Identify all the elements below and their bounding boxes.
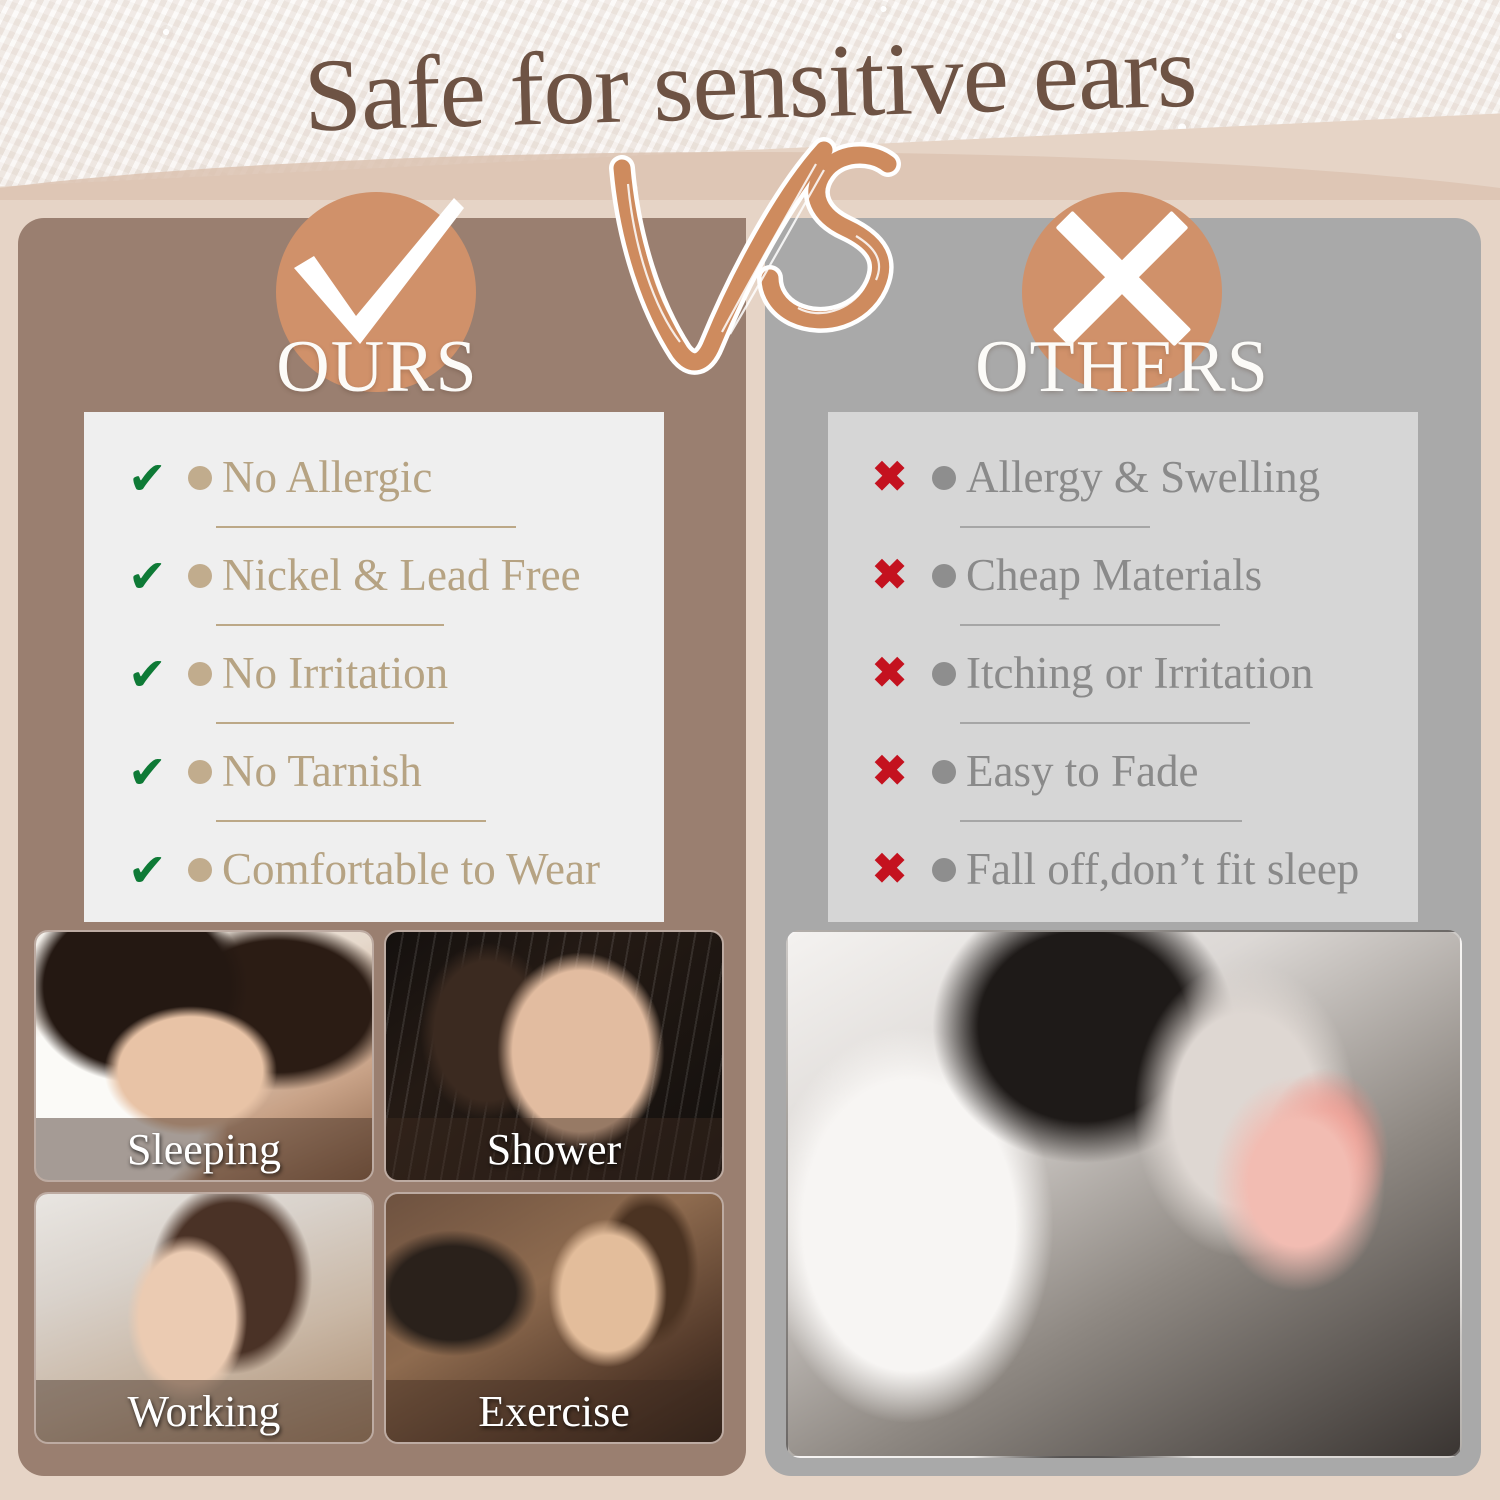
check-icon: ✔ [128,651,174,697]
others-ear-pain-photo[interactable] [786,930,1462,1458]
list-item-label: Nickel & Lead Free [222,552,581,599]
list-item[interactable]: ✖ Fall off,don’t fit sleep [828,822,1418,918]
photo-card-sleeping[interactable]: Sleeping [34,930,374,1182]
photo-caption: Working [36,1380,372,1442]
list-item[interactable]: ✔ No Tarnish [84,724,664,820]
list-item-label: Itching or Irritation [966,650,1313,697]
ours-photo-grid: Sleeping Shower Working Exercise [34,930,724,1458]
bullet-dot-icon [188,466,212,490]
list-item[interactable]: ✔ No Allergic [84,430,664,526]
vs-badge: VS [588,128,918,398]
list-item-label: Cheap Materials [966,552,1262,599]
photo-card-exercise[interactable]: Exercise [384,1192,724,1444]
check-icon: ✔ [128,749,174,795]
list-item-label: No Tarnish [222,748,422,795]
bullet-dot-icon [932,466,956,490]
photo-caption: Exercise [386,1380,722,1442]
vs-brush-icon: VS [588,128,918,398]
bullet-dot-icon [188,760,212,784]
others-feature-list: ✖ Allergy & Swelling ✖ Cheap Materials ✖… [828,412,1418,922]
list-item[interactable]: ✖ Cheap Materials [828,528,1418,624]
others-badge-label: OTHERS [962,330,1282,404]
cross-icon: ✖ [872,751,918,793]
ours-badge-label: OURS [262,330,492,404]
list-item[interactable]: ✖ Itching or Irritation [828,626,1418,722]
bullet-dot-icon [188,662,212,686]
list-item[interactable]: ✖ Allergy & Swelling [828,430,1418,526]
bullet-dot-icon [188,564,212,588]
list-item-label: No Irritation [222,650,448,697]
list-item[interactable]: ✖ Easy to Fade [828,724,1418,820]
cross-icon: ✖ [872,457,918,499]
list-item-label: Fall off,don’t fit sleep [966,846,1359,893]
photo-card-shower[interactable]: Shower [384,930,724,1182]
list-item-label: Comfortable to Wear [222,846,600,893]
check-icon: ✔ [128,455,174,501]
cross-icon: ✖ [872,555,918,597]
list-item[interactable]: ✔ Nickel & Lead Free [84,528,664,624]
photo-caption: Sleeping [36,1118,372,1180]
bullet-dot-icon [932,858,956,882]
photo-caption: Shower [386,1118,722,1180]
bullet-dot-icon [932,564,956,588]
cross-icon: ✖ [872,653,918,695]
check-icon: ✔ [128,553,174,599]
cross-icon: ✖ [872,849,918,891]
check-icon: ✔ [128,847,174,893]
list-item[interactable]: ✔ Comfortable to Wear [84,822,664,918]
list-item[interactable]: ✔ No Irritation [84,626,664,722]
ours-feature-list: ✔ No Allergic ✔ Nickel & Lead Free ✔ No … [84,412,664,922]
list-item-label: Allergy & Swelling [966,454,1320,501]
bullet-dot-icon [932,760,956,784]
list-item-label: No Allergic [222,454,432,501]
photo-card-working[interactable]: Working [34,1192,374,1444]
list-item-label: Easy to Fade [966,748,1198,795]
bullet-dot-icon [932,662,956,686]
check-icon [288,196,464,346]
bullet-dot-icon [188,858,212,882]
